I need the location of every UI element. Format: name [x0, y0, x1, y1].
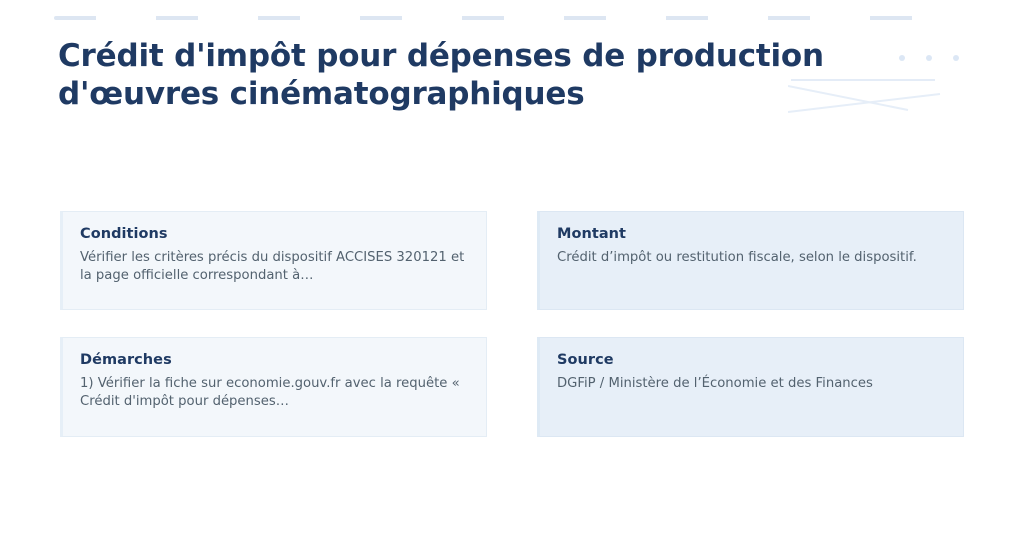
- dot-icon: [926, 55, 932, 61]
- card-conditions: Conditions Vérifier les critères précis …: [60, 211, 487, 310]
- card-title: Démarches: [80, 352, 469, 369]
- top-dashed-rule-decoration: [54, 16, 972, 20]
- dot-icon: [953, 55, 959, 61]
- card-title: Source: [557, 352, 946, 369]
- card-demarches: Démarches 1) Vérifier la fiche sur econo…: [60, 337, 487, 437]
- horizontal-line-decoration: [791, 79, 935, 81]
- page-title-line-1: Crédit d'impôt pour dépenses de producti…: [58, 38, 824, 74]
- dots-decoration-icon: [899, 55, 999, 65]
- crossing-lines-decoration-icon: [788, 84, 944, 114]
- card-body: Crédit d’impôt ou restitution fiscale, s…: [557, 249, 946, 267]
- card-montant: Montant Crédit d’impôt ou restitution fi…: [537, 211, 964, 310]
- card-title: Montant: [557, 226, 946, 243]
- slide-canvas: Crédit d'impôt pour dépenses de producti…: [0, 0, 1024, 538]
- card-body: 1) Vérifier la fiche sur economie.gouv.f…: [80, 375, 469, 411]
- card-source: Source DGFiP / Ministère de l’Économie e…: [537, 337, 964, 437]
- card-body: DGFiP / Ministère de l’Économie et des F…: [557, 375, 946, 393]
- card-title: Conditions: [80, 226, 469, 243]
- crossing-lines-svg: [788, 84, 944, 114]
- dot-icon: [899, 55, 905, 61]
- card-body: Vérifier les critères précis du disposit…: [80, 249, 469, 285]
- info-cards-grid: Conditions Vérifier les critères précis …: [60, 211, 964, 437]
- page-title-line-2: d'œuvres cinématographiques: [58, 76, 585, 112]
